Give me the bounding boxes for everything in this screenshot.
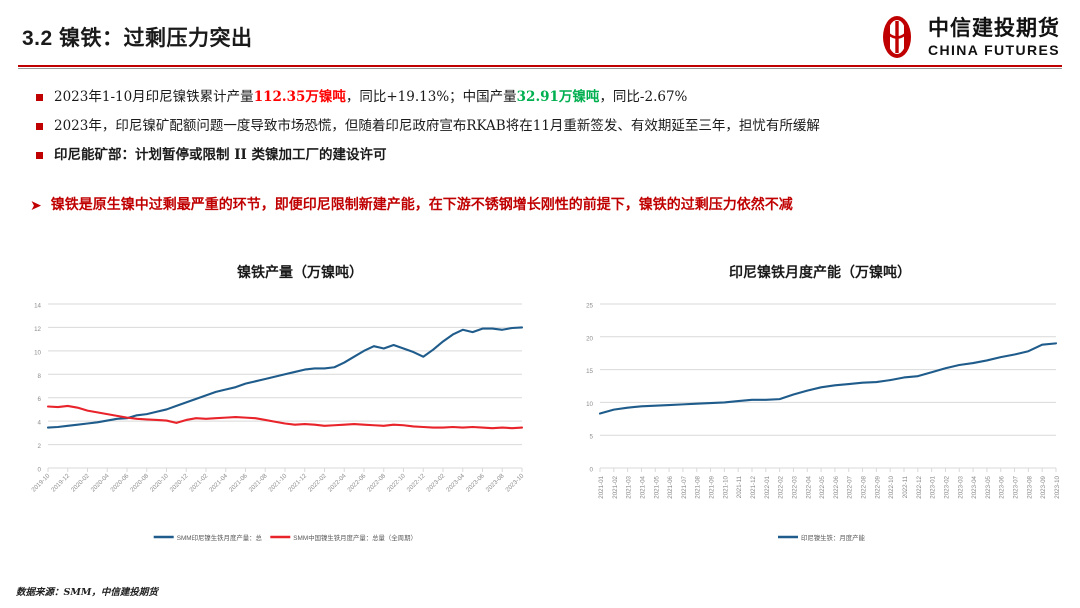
x-axis-tick-label: 2021-03: [626, 475, 633, 498]
bullet-text-1: 2023年1-10月印尼镍铁累计产量112.35万镍吨，同比+19.13%；中国…: [54, 88, 687, 106]
series-line-0: [600, 343, 1056, 413]
x-axis-tick-label: 2021-07: [681, 475, 688, 498]
x-axis-tick-label: 2022-08: [861, 475, 868, 498]
source-note: 数据来源：SMM，中信建投期货: [16, 584, 158, 598]
x-axis-tick-label: 2023-04: [445, 472, 466, 493]
bullet-seg: ，同比+19.13%；中国产量: [346, 89, 517, 105]
x-axis-tick-label: 2021-04: [208, 472, 229, 493]
chart-svg: 024681012142019-102019-122020-022020-042…: [14, 296, 534, 546]
y-axis-tick-label: 4: [38, 420, 42, 427]
x-axis-tick-label: 2021-09: [709, 475, 716, 498]
arrow-note: ➤ 镍铁是原生镍中过剩最严重的环节，即便印尼限制新建产能，在下游不锈钢增长刚性的…: [30, 196, 1060, 215]
y-axis-tick-label: 10: [34, 349, 41, 356]
x-axis-tick-label: 2022-04: [805, 475, 812, 498]
y-axis-tick-label: 8: [38, 373, 42, 380]
x-axis-tick-label: 2021-10: [722, 475, 729, 498]
x-axis-tick-label: 2019-12: [50, 472, 71, 493]
y-axis-tick-label: 20: [586, 335, 593, 342]
x-axis-tick-label: 2021-12: [750, 475, 757, 498]
x-axis-tick-label: 2023-06: [465, 472, 486, 493]
x-axis-tick-label: 2021-10: [267, 472, 288, 493]
y-axis-tick-label: 14: [34, 303, 41, 310]
arrow-bullet-icon: ➤: [30, 196, 42, 214]
x-axis-tick-label: 2022-10: [888, 475, 895, 498]
y-axis-tick-label: 12: [34, 326, 41, 333]
arrow-note-text: 镍铁是原生镍中过剩最严重的环节，即便印尼限制新建产能，在下游不锈钢增长刚性的前提…: [51, 196, 793, 215]
square-bullet-icon: [36, 94, 43, 101]
x-axis-tick-label: 2022-08: [366, 472, 387, 493]
brand-name-cn: 中信建投期货: [928, 18, 1060, 39]
legend-label-0: 印尼镍生铁：月度产能: [801, 533, 866, 542]
bullet-text-2: 2023年，印尼镍矿配额问题一度导致市场恐慌，但随着印尼政府宣布RKAB将在11…: [54, 117, 820, 135]
list-item: 2023年1-10月印尼镍铁累计产量112.35万镍吨，同比+19.13%；中国…: [36, 88, 1046, 106]
y-axis-tick-label: 0: [590, 467, 594, 474]
x-axis-tick-label: 2021-11: [736, 475, 743, 498]
bullet-text-3: 印尼能矿部：计划暂停或限制 II 类镍加工厂的建设许可: [54, 146, 387, 164]
y-axis-tick-label: 5: [590, 434, 594, 441]
x-axis-tick-label: 2020-06: [109, 472, 130, 493]
series-line-1: [48, 406, 522, 428]
x-axis-tick-label: 2021-06: [667, 475, 674, 498]
x-axis-tick-label: 2023-06: [999, 475, 1006, 498]
slide: 3.2 镍铁：过剩压力突出 中信建投期货 CHINA FUTURES: [0, 0, 1080, 608]
x-axis-tick-label: 2022-10: [386, 472, 407, 493]
x-axis-tick-label: 2020-02: [70, 472, 91, 493]
x-axis-tick-label: 2023-07: [1013, 475, 1020, 498]
citic-futures-logo-icon: [874, 14, 920, 60]
x-axis-tick-label: 2020-10: [149, 472, 170, 493]
x-axis-tick-label: 2023-05: [985, 475, 992, 498]
x-axis-tick-label: 2022-02: [778, 475, 785, 498]
x-axis-tick-label: 2022-12: [916, 475, 923, 498]
chart-svg: 05101520252021-012021-022021-032021-0420…: [566, 296, 1066, 546]
legend-label-0: SMM印尼镍生铁月度产量：总: [177, 533, 263, 542]
y-axis-tick-label: 6: [38, 396, 42, 403]
x-axis-tick-label: 2021-06: [228, 472, 249, 493]
x-axis-tick-label: 2023-01: [930, 475, 937, 498]
y-axis-tick-label: 25: [586, 303, 593, 310]
x-axis-tick-label: 2023-10: [1054, 475, 1061, 498]
header-divider-grey: [18, 68, 1062, 69]
x-axis-tick-label: 2021-04: [639, 475, 646, 498]
x-axis-tick-label: 2022-11: [902, 475, 909, 498]
x-axis-tick-label: 2020-12: [169, 472, 190, 493]
bullet-seg-highlight: 112.35万镍吨: [254, 89, 346, 105]
legend-label-1: SMM中国镍生铁月度产量：总量（全周期）: [293, 533, 417, 542]
x-axis-tick-label: 2022-06: [833, 475, 840, 498]
chart-indonesia-npi-capacity: 05101520252021-012021-022021-032021-0420…: [566, 296, 1066, 546]
x-axis-tick-label: 2022-04: [327, 472, 348, 493]
chart-nickel-pig-iron-output: 024681012142019-102019-122020-022020-042…: [14, 296, 534, 546]
bullet-seg-highlight: 32.91万镍吨: [517, 89, 600, 105]
x-axis-tick-label: 2021-01: [598, 475, 605, 498]
list-item: 印尼能矿部：计划暂停或限制 II 类镍加工厂的建设许可: [36, 146, 1046, 164]
x-axis-tick-label: 2021-08: [248, 472, 269, 493]
x-axis-tick-label: 2021-12: [287, 472, 308, 493]
page-title: 3.2 镍铁：过剩压力突出: [22, 22, 253, 52]
brand-text: 中信建投期货 CHINA FUTURES: [928, 18, 1060, 57]
x-axis-tick-label: 2022-05: [819, 475, 826, 498]
y-axis-tick-label: 2: [38, 443, 42, 450]
x-axis-tick-label: 2022-03: [791, 475, 798, 498]
x-axis-tick-label: 2022-12: [406, 472, 427, 493]
x-axis-tick-label: 2020-08: [129, 472, 150, 493]
x-axis-tick-label: 2021-02: [188, 472, 209, 493]
x-axis-tick-label: 2023-10: [504, 472, 525, 493]
y-axis-tick-label: 10: [586, 401, 593, 408]
x-axis-tick-label: 2023-04: [971, 475, 978, 498]
x-axis-tick-label: 2023-08: [485, 472, 506, 493]
x-axis-tick-label: 2022-01: [764, 475, 771, 498]
x-axis-tick-label: 2021-05: [653, 475, 660, 498]
bullet-list: 2023年1-10月印尼镍铁累计产量112.35万镍吨，同比+19.13%；中国…: [36, 88, 1046, 176]
brand-logo: 中信建投期货 CHINA FUTURES: [874, 14, 1060, 60]
brand-name-en: CHINA FUTURES: [928, 43, 1060, 57]
x-axis-tick-label: 2021-02: [612, 475, 619, 498]
x-axis-tick-label: 2022-02: [307, 472, 328, 493]
x-axis-tick-label: 2023-02: [943, 475, 950, 498]
x-axis-tick-label: 2023-08: [1026, 475, 1033, 498]
x-axis-tick-label: 2021-08: [695, 475, 702, 498]
x-axis-tick-label: 2022-06: [346, 472, 367, 493]
x-axis-tick-label: 2023-02: [425, 472, 446, 493]
x-axis-tick-label: 2023-03: [957, 475, 964, 498]
x-axis-tick-label: 2022-09: [874, 475, 881, 498]
x-axis-tick-label: 2019-10: [30, 472, 51, 493]
x-axis-tick-label: 2023-09: [1040, 475, 1047, 498]
square-bullet-icon: [36, 123, 43, 130]
bullet-seg: ，同比-2.67%: [599, 89, 687, 105]
bullet-seg: 2023年1-10月印尼镍铁累计产量: [54, 89, 254, 105]
slide-header: 3.2 镍铁：过剩压力突出 中信建投期货 CHINA FUTURES: [0, 0, 1080, 72]
x-axis-tick-label: 2020-04: [90, 472, 111, 493]
series-line-0: [48, 327, 522, 427]
square-bullet-icon: [36, 152, 43, 159]
list-item: 2023年，印尼镍矿配额问题一度导致市场恐慌，但随着印尼政府宣布RKAB将在11…: [36, 117, 1046, 135]
x-axis-tick-label: 2022-07: [847, 475, 854, 498]
chart-title-right: 印尼镍铁月度产能（万镍吨）: [640, 262, 1000, 282]
chart-title-left: 镍铁产量（万镍吨）: [120, 262, 480, 282]
y-axis-tick-label: 0: [38, 467, 42, 474]
y-axis-tick-label: 15: [586, 368, 593, 375]
